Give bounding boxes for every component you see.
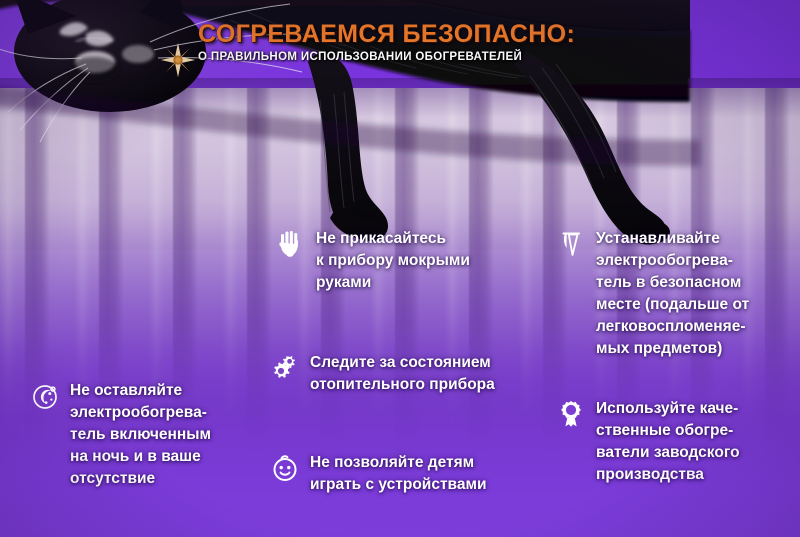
quality-award-medal-icon <box>556 399 586 429</box>
tip-text: Устанавливайте электрообогрева- тель в б… <box>596 228 749 360</box>
tip-text: Используйте каче- ственные обогре- вател… <box>596 398 740 486</box>
page-subtitle: О ПРАВИЛЬНОМ ИСПОЛЬЗОВАНИИ ОБОГРЕВАТЕЛЕЙ <box>198 51 522 63</box>
tip-wet-hands: Не прикасайтесь к прибору мокрыми руками <box>276 228 506 294</box>
tip-safe-placement: Устанавливайте электрообогрева- тель в б… <box>556 228 796 360</box>
tip-text: Следите за состоянием отопительного приб… <box>310 352 495 396</box>
tip-quality-products: Используйте каче- ственные обогре- вател… <box>556 398 796 486</box>
tip-monitor-device: Следите за состоянием отопительного приб… <box>270 352 520 396</box>
baby-face-icon <box>270 453 300 483</box>
moon-night-icon <box>30 381 60 411</box>
compass-star-icon <box>160 42 196 78</box>
pennant-flag-icon <box>556 229 586 259</box>
page-title: СОГРЕВАЕМСЯ БЕЗОПАСНО: <box>198 20 575 49</box>
tip-text: Не позволяйте детям играть с устройствам… <box>310 452 487 496</box>
tip-text: Не оставляйте электрообогрева- тель вклю… <box>70 380 211 490</box>
hand-palm-icon <box>276 229 306 259</box>
gears-icon <box>270 353 300 383</box>
infographic-poster: СОГРЕВАЕМСЯ БЕЗОПАСНО: О ПРАВИЛЬНОМ ИСПО… <box>0 0 800 537</box>
tip-text: Не прикасайтесь к прибору мокрыми руками <box>316 228 470 294</box>
title-block: СОГРЕВАЕМСЯ БЕЗОПАСНО: О ПРАВИЛЬНОМ ИСПО… <box>160 20 520 78</box>
tip-no-overnight-use: Не оставляйте электрообогрева- тель вклю… <box>30 380 260 490</box>
tip-children: Не позволяйте детям играть с устройствам… <box>270 452 520 496</box>
